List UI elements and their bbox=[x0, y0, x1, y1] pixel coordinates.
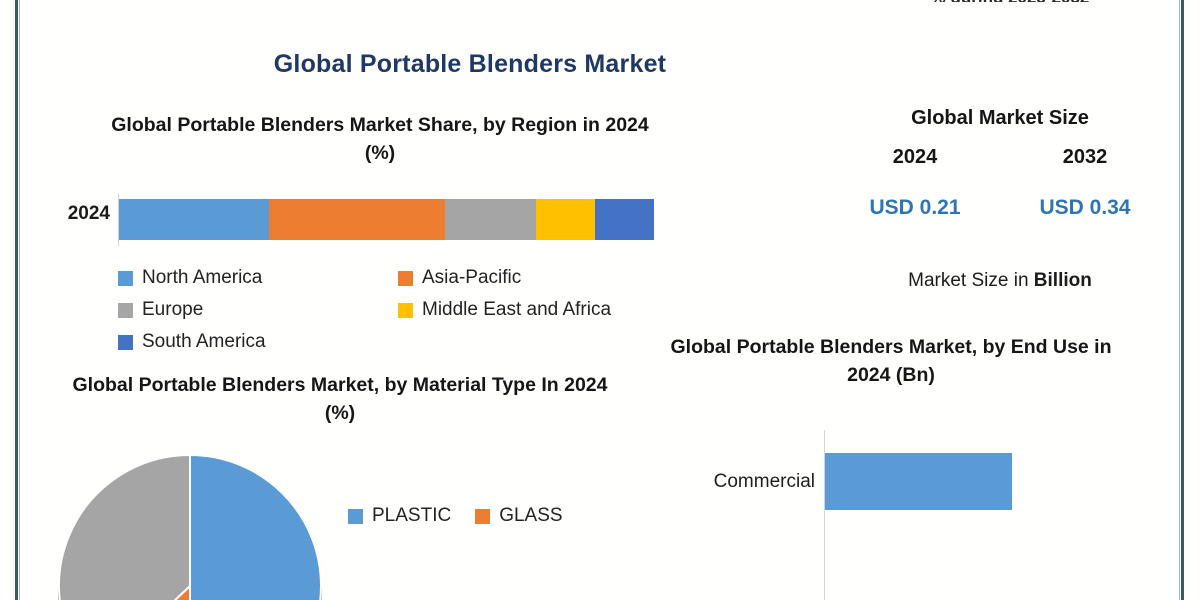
region-legend-row-1: North America Asia-Pacific bbox=[118, 262, 678, 294]
region-segment-asia-pacific bbox=[269, 199, 446, 240]
legend-item-label: South America bbox=[142, 331, 266, 353]
market-size-values: USD 0.21 USD 0.34 bbox=[830, 196, 1170, 220]
market-size-value-end: USD 0.34 bbox=[1000, 196, 1170, 220]
material-legend: PLASTIC GLASS bbox=[348, 505, 587, 527]
market-size-year-end: 2032 bbox=[1000, 146, 1170, 169]
clipped-cagr-note: % during 2025-2032 bbox=[880, 0, 1140, 2]
market-size-title: Global Market Size bbox=[830, 104, 1170, 132]
legend-item-label: GLASS bbox=[499, 505, 562, 527]
region-legend-row-2: Europe Middle East and Africa bbox=[118, 294, 678, 326]
legend-item-label: PLASTIC bbox=[372, 505, 451, 527]
enduse-chart-title: Global Portable Blenders Market, by End … bbox=[655, 334, 1127, 389]
region-legend: North America Asia-Pacific Europe Middle… bbox=[118, 262, 678, 358]
end-use-bar-commercial bbox=[825, 453, 1012, 510]
infographic-root: % during 2025-2032 Global Portable Blend… bbox=[0, 0, 1200, 600]
legend-item-north-america[interactable]: North America bbox=[118, 267, 398, 289]
pie-svg bbox=[58, 454, 322, 600]
region-segment-south-america bbox=[595, 199, 654, 240]
legend-item-label: Middle East and Africa bbox=[422, 299, 611, 321]
market-size-year-start: 2024 bbox=[830, 146, 1000, 169]
legend-swatch-icon bbox=[118, 303, 133, 318]
legend-swatch-icon bbox=[398, 271, 413, 286]
legend-item-label: Europe bbox=[142, 299, 203, 321]
legend-swatch-icon bbox=[348, 509, 363, 524]
market-size-years: 2024 2032 bbox=[830, 146, 1170, 169]
legend-swatch-icon bbox=[118, 271, 133, 286]
pie-slice-plastic bbox=[190, 455, 321, 600]
legend-item-europe[interactable]: Europe bbox=[118, 299, 398, 321]
end-use-bar-chart: Commercial bbox=[655, 430, 1125, 600]
pie-slice-others bbox=[59, 455, 190, 600]
legend-swatch-icon bbox=[118, 335, 133, 350]
region-chart-title: Global Portable Blenders Market Share, b… bbox=[95, 112, 665, 167]
region-axis-category-label: 2024 bbox=[40, 203, 110, 225]
legend-item-glass[interactable]: GLASS bbox=[475, 505, 562, 527]
market-size-value-start: USD 0.21 bbox=[830, 196, 1000, 220]
region-stacked-bar-chart: 2024 bbox=[40, 194, 640, 248]
legend-item-label: North America bbox=[142, 267, 262, 289]
frame-border-left bbox=[15, 0, 18, 600]
region-segment-middle-east-and-africa bbox=[536, 199, 595, 240]
frame-border-left-inner bbox=[19, 0, 20, 600]
region-segment-north-america bbox=[119, 199, 269, 240]
legend-item-south-america[interactable]: South America bbox=[118, 331, 408, 353]
market-size-unit-note: Market Size in Billion bbox=[830, 270, 1170, 292]
legend-swatch-icon bbox=[475, 509, 490, 524]
legend-item-asia-pacific[interactable]: Asia-Pacific bbox=[398, 267, 678, 289]
region-segment-europe bbox=[445, 199, 536, 240]
legend-item-middle-east-and-africa[interactable]: Middle East and Africa bbox=[398, 299, 678, 321]
page-title: Global Portable Blenders Market bbox=[0, 50, 940, 79]
region-stacked-bar bbox=[119, 199, 654, 240]
legend-swatch-icon bbox=[398, 303, 413, 318]
end-use-category-label: Commercial bbox=[655, 471, 815, 493]
pie-slices bbox=[58, 454, 322, 600]
market-size-unit-bold: Billion bbox=[1034, 270, 1092, 291]
frame-border-right-inner bbox=[1179, 0, 1180, 600]
region-legend-row-3: South America bbox=[118, 326, 678, 358]
material-type-pie-chart bbox=[22, 440, 322, 600]
legend-item-plastic[interactable]: PLASTIC bbox=[348, 505, 451, 527]
material-chart-title: Global Portable Blenders Market, by Mate… bbox=[60, 372, 620, 427]
legend-item-label: Asia-Pacific bbox=[422, 267, 521, 289]
frame-border-right bbox=[1181, 0, 1184, 600]
market-size-unit-prefix: Market Size in bbox=[908, 270, 1034, 291]
